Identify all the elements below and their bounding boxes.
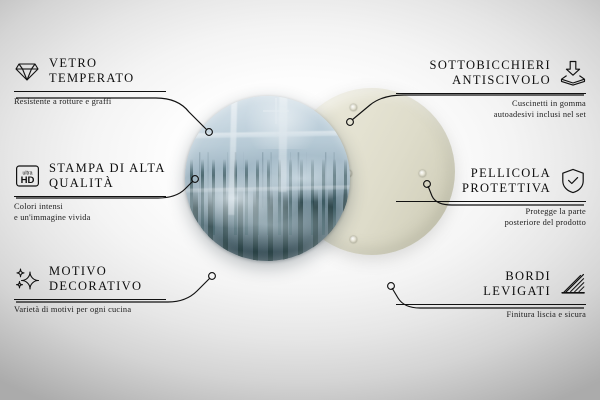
feature-title: MOTIVO DECORATIVO <box>49 264 142 294</box>
feature-heading: MOTIVO DECORATIVO <box>14 264 222 294</box>
rubber-pad-icon <box>350 236 357 243</box>
feature-divider <box>14 196 166 197</box>
feature-title: SOTTOBICCHIERI ANTISCIVOLO <box>430 58 551 88</box>
feature-title: PELLICOLA PROTETTIVA <box>462 166 551 196</box>
arrow-down-to-pad-icon <box>560 60 586 86</box>
feature-subtitle: Colori intensi e un'immagine vivida <box>14 201 222 223</box>
feature-subtitle: Finitura liscia e sicura <box>378 309 586 320</box>
feature-bordi-levigati: BORDI LEVIGATI Finitura liscia e sicura <box>378 269 586 320</box>
feature-subtitle: Protegge la parte posteriore del prodott… <box>378 206 586 228</box>
feature-divider <box>396 93 586 94</box>
feature-heading: ultra HD STAMPA DI ALTA QUALITÀ <box>14 161 222 191</box>
feature-subtitle: Resistente a rotture e graffi <box>14 96 222 107</box>
feature-subtitle: Varietà di motivi per ogni cucina <box>14 304 222 315</box>
feature-heading: BORDI LEVIGATI <box>378 269 586 299</box>
feature-divider <box>396 201 586 202</box>
feature-heading: SOTTOBICCHIERI ANTISCIVOLO <box>378 58 586 88</box>
shield-check-icon <box>560 168 586 194</box>
svg-text:HD: HD <box>20 175 34 186</box>
sparkles-icon <box>14 266 40 292</box>
feature-subtitle: Cuscinetti in gomma autoadesivi inclusi … <box>378 98 586 120</box>
feature-title: STAMPA DI ALTA QUALITÀ <box>49 161 166 191</box>
feature-sottobicchieri-antiscivolo: SOTTOBICCHIERI ANTISCIVOLO Cuscinetti in… <box>378 58 586 120</box>
feature-divider <box>14 299 166 300</box>
product-infographic: VETRO TEMPERATO Resistente a rotture e g… <box>0 0 600 400</box>
polished-edge-icon <box>560 271 586 297</box>
feature-title: BORDI LEVIGATI <box>483 269 551 299</box>
feature-heading: PELLICOLA PROTETTIVA <box>378 166 586 196</box>
feature-motivo-decorativo: MOTIVO DECORATIVO Varietà di motivi per … <box>14 264 222 315</box>
feature-divider <box>396 304 586 305</box>
ultra-hd-badge-icon: ultra HD <box>14 163 40 189</box>
feature-heading: VETRO TEMPERATO <box>14 56 222 86</box>
rubber-pad-icon <box>350 104 357 111</box>
feature-vetro-temperato: VETRO TEMPERATO Resistente a rotture e g… <box>14 56 222 107</box>
feature-pellicola-protettiva: PELLICOLA PROTETTIVA Protegge la parte p… <box>378 166 586 228</box>
feature-title: VETRO TEMPERATO <box>49 56 135 86</box>
feature-divider <box>14 91 166 92</box>
diamond-icon <box>14 58 40 84</box>
feature-stampa-alta-qualita: ultra HD STAMPA DI ALTA QUALITÀ Colori i… <box>14 161 222 223</box>
